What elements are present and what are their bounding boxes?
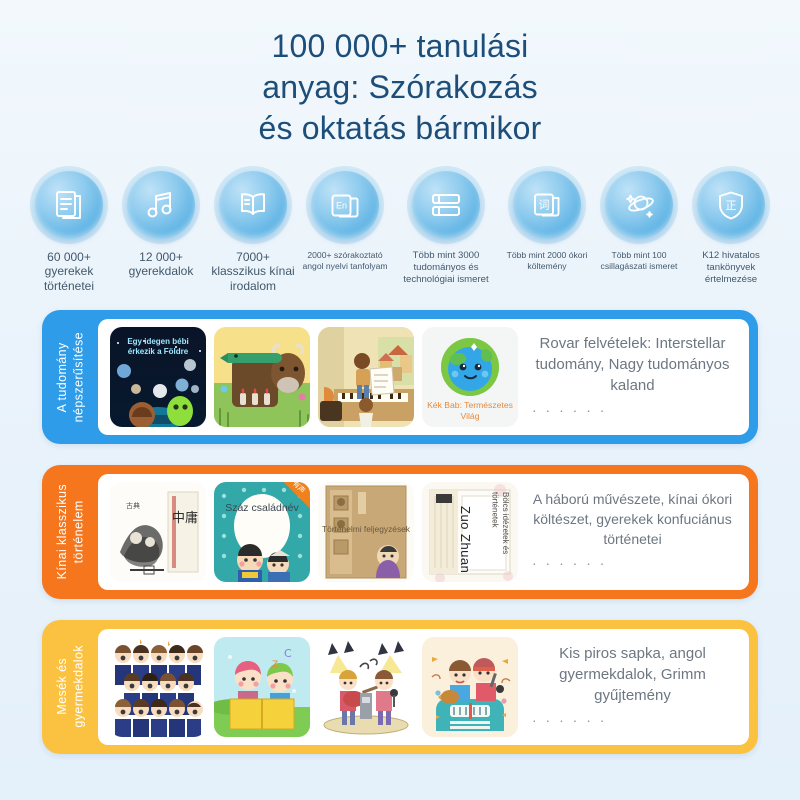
svg-text:正: 正	[726, 199, 737, 212]
feature-item-ancient-poems[interactable]: 词 Több mint 2000 ókori költemény	[504, 171, 590, 272]
card-tab-chinese-history: Kínai klasszikus történelem	[42, 474, 98, 590]
cow-crocodile-thumb[interactable]	[214, 327, 310, 427]
feature-item-kids-stories[interactable]: 60 000+ gyerekek történetei	[26, 171, 112, 294]
feature-item-english-course[interactable]: En 2000+ szórakoztató angol nyelvi tanfo…	[302, 171, 388, 272]
card-ellipsis: · · · · · ·	[528, 554, 737, 574]
feature-label: 2000+ szórakoztató angol nyelvi tanfolya…	[302, 250, 388, 272]
card-tab-tales-songs: Mesék és gyermekdalok	[42, 629, 98, 745]
card-description-block: A háború művészete, kínai ókori költésze…	[518, 490, 743, 574]
planet-icon	[605, 171, 673, 239]
svg-text:Z: Z	[272, 660, 278, 670]
feature-label: 60 000+ gyerekek történetei	[26, 250, 112, 294]
shield-badge-icon: 正	[697, 171, 765, 239]
feature-item-kids-songs[interactable]: 12 000+ gyerekdalok	[118, 171, 204, 279]
feature-label: 12 000+ gyerekdalok	[118, 250, 204, 279]
thumbnail-row: Egy idegen bébi érkezik a Földre	[104, 327, 518, 427]
kids-stage-band-thumb[interactable]	[318, 637, 414, 737]
svg-text:古典: 古典	[126, 501, 140, 510]
page-title: 100 000+ tanulási anyag: Szórakozás és o…	[0, 0, 800, 149]
kids-radio-music-thumb[interactable]	[422, 637, 518, 737]
card-body: C Z	[98, 629, 749, 745]
thumb-title: Történelmi feljegyzések	[318, 524, 414, 534]
thumb-subtitle: Bölcs idézetek és történetek	[489, 492, 510, 582]
childrens-choir-thumb[interactable]	[110, 637, 206, 737]
card-tab-label: Kínai klasszikus történelem	[54, 484, 87, 579]
card-tab-label: Mesék és gyermekdalok	[54, 645, 87, 728]
category-card-chinese-history[interactable]: Kínai klasszikus történelem 中庸 古典	[42, 465, 758, 599]
kids-piano-thumb[interactable]	[318, 327, 414, 427]
card-description: Kis piros sapka, angol gyermekdalok, Gri…	[528, 643, 737, 707]
feature-strip: 60 000+ gyerekek történetei 12 000+ gyer…	[0, 171, 800, 294]
card-tab-science: A tudomány népszerűsítése	[42, 319, 98, 435]
ink-painting-book-thumb[interactable]: 中庸 古典	[110, 482, 206, 582]
category-card-list: A tudomány népszerűsítése	[0, 310, 800, 754]
feature-label: Több mint 3000 tudományos és technológia…	[394, 250, 498, 286]
feature-label: Több mint 2000 ókori költemény	[504, 250, 590, 272]
category-card-tales-songs[interactable]: Mesék és gyermekdalok	[42, 620, 758, 754]
thumb-caption: Egy idegen bébi érkezik a Földre	[116, 337, 200, 357]
card-description: Rovar felvételek: Interstellar tudomány,…	[528, 333, 737, 397]
card-ellipsis: · · · · · ·	[528, 401, 737, 421]
thumbnail-row: C Z	[104, 637, 518, 737]
card-description-block: Kis piros sapka, angol gyermekdalok, Gri…	[518, 643, 743, 731]
category-card-science[interactable]: A tudomány népszerűsítése	[42, 310, 758, 444]
feature-label: K12 hivatalos tankönyvek értelmezése	[688, 250, 774, 286]
headline-line-3: és oktatás bármikor	[0, 108, 800, 149]
hundred-surnames-thumb[interactable]: Száz családnév 有声	[214, 482, 310, 582]
card-tab-label: A tudomány népszerűsítése	[54, 332, 87, 422]
svg-text:En: En	[336, 200, 347, 210]
chinese-word-icon: 词	[513, 171, 581, 239]
music-note-icon	[127, 171, 195, 239]
thumb-title: Száz családnév	[222, 502, 302, 515]
card-body: 中庸 古典	[98, 474, 749, 590]
blue-bean-nature-thumb[interactable]: Kék Bab: Természetes Világ	[422, 327, 518, 427]
thumbnail-row: 中庸 古典	[104, 482, 518, 582]
historical-records-thumb[interactable]: Történelmi feljegyzések	[318, 482, 414, 582]
thumb-title: Zuo Zhuan	[456, 506, 473, 573]
svg-text:词: 词	[539, 198, 550, 211]
document-stack-icon	[35, 171, 103, 239]
feature-item-astronomy[interactable]: Több mint 100 csillagászati ismeret	[596, 171, 682, 272]
feature-label: 7000+ klasszikus kínai irodalom	[210, 250, 296, 294]
feature-item-chinese-literature[interactable]: 7000+ klasszikus kínai irodalom	[210, 171, 296, 294]
kids-reading-book-thumb[interactable]: C Z	[214, 637, 310, 737]
feature-label: Több mint 100 csillagászati ismeret	[596, 250, 682, 272]
card-body: Egy idegen bébi érkezik a Földre	[98, 319, 749, 435]
headline-line-2: anyag: Szórakozás	[0, 67, 800, 108]
feature-item-k12-textbooks[interactable]: 正 K12 hivatalos tankönyvek értelmezése	[688, 171, 774, 286]
alien-baby-earth-thumb[interactable]: Egy idegen bébi érkezik a Földre	[110, 327, 206, 427]
svg-text:中庸: 中庸	[172, 510, 198, 526]
card-ellipsis: · · · · · ·	[528, 711, 737, 731]
open-book-icon	[219, 171, 287, 239]
book-shelf-icon	[412, 171, 480, 239]
svg-text:C: C	[284, 647, 292, 660]
card-description: A háború művészete, kínai ókori költésze…	[528, 490, 737, 550]
zuo-zhuan-thumb[interactable]: Bölcs idézetek és történetek Zuo Zhuan	[422, 482, 518, 582]
feature-item-science-tech[interactable]: Több mint 3000 tudományos és technológia…	[394, 171, 498, 286]
english-card-icon: En	[311, 171, 379, 239]
thumb-caption: Kék Bab: Természetes Világ	[422, 400, 518, 421]
headline-line-1: 100 000+ tanulási	[0, 26, 800, 67]
card-description-block: Rovar felvételek: Interstellar tudomány,…	[518, 333, 743, 421]
